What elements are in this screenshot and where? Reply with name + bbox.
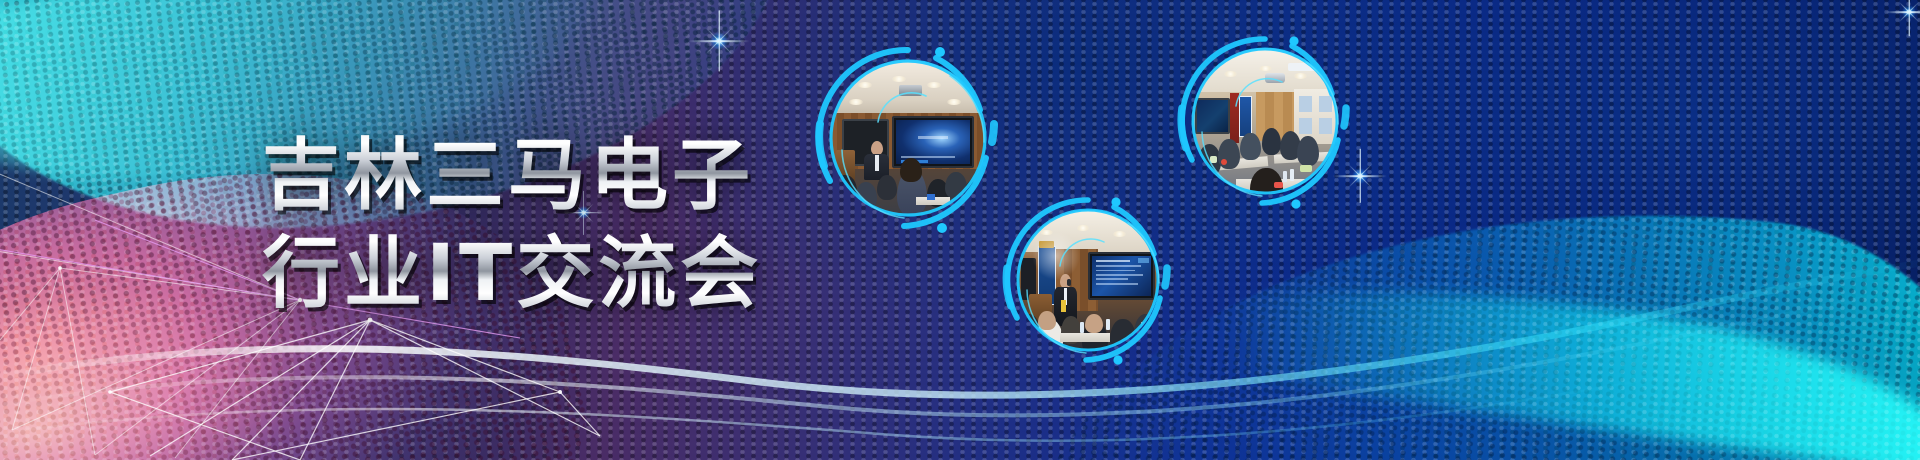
photo-circle-speaker-mic[interactable] xyxy=(998,190,1178,370)
photo-circle-meeting-room[interactable] xyxy=(1172,28,1358,214)
headline-block: 吉林三马电子 行业IT交流会 xyxy=(262,128,762,322)
photo-lecture-hall-ring xyxy=(808,38,1008,238)
banner-root: 吉林三马电子 行业IT交流会 xyxy=(0,0,1920,460)
headline-line-2: 行业IT交流会 xyxy=(262,226,762,322)
photo-meeting-room-ring xyxy=(1172,28,1358,214)
photo-speaker-mic-ring xyxy=(998,190,1178,370)
photo-circle-lecture-hall[interactable] xyxy=(808,38,1008,238)
headline-line-1: 吉林三马电子 xyxy=(262,128,762,224)
